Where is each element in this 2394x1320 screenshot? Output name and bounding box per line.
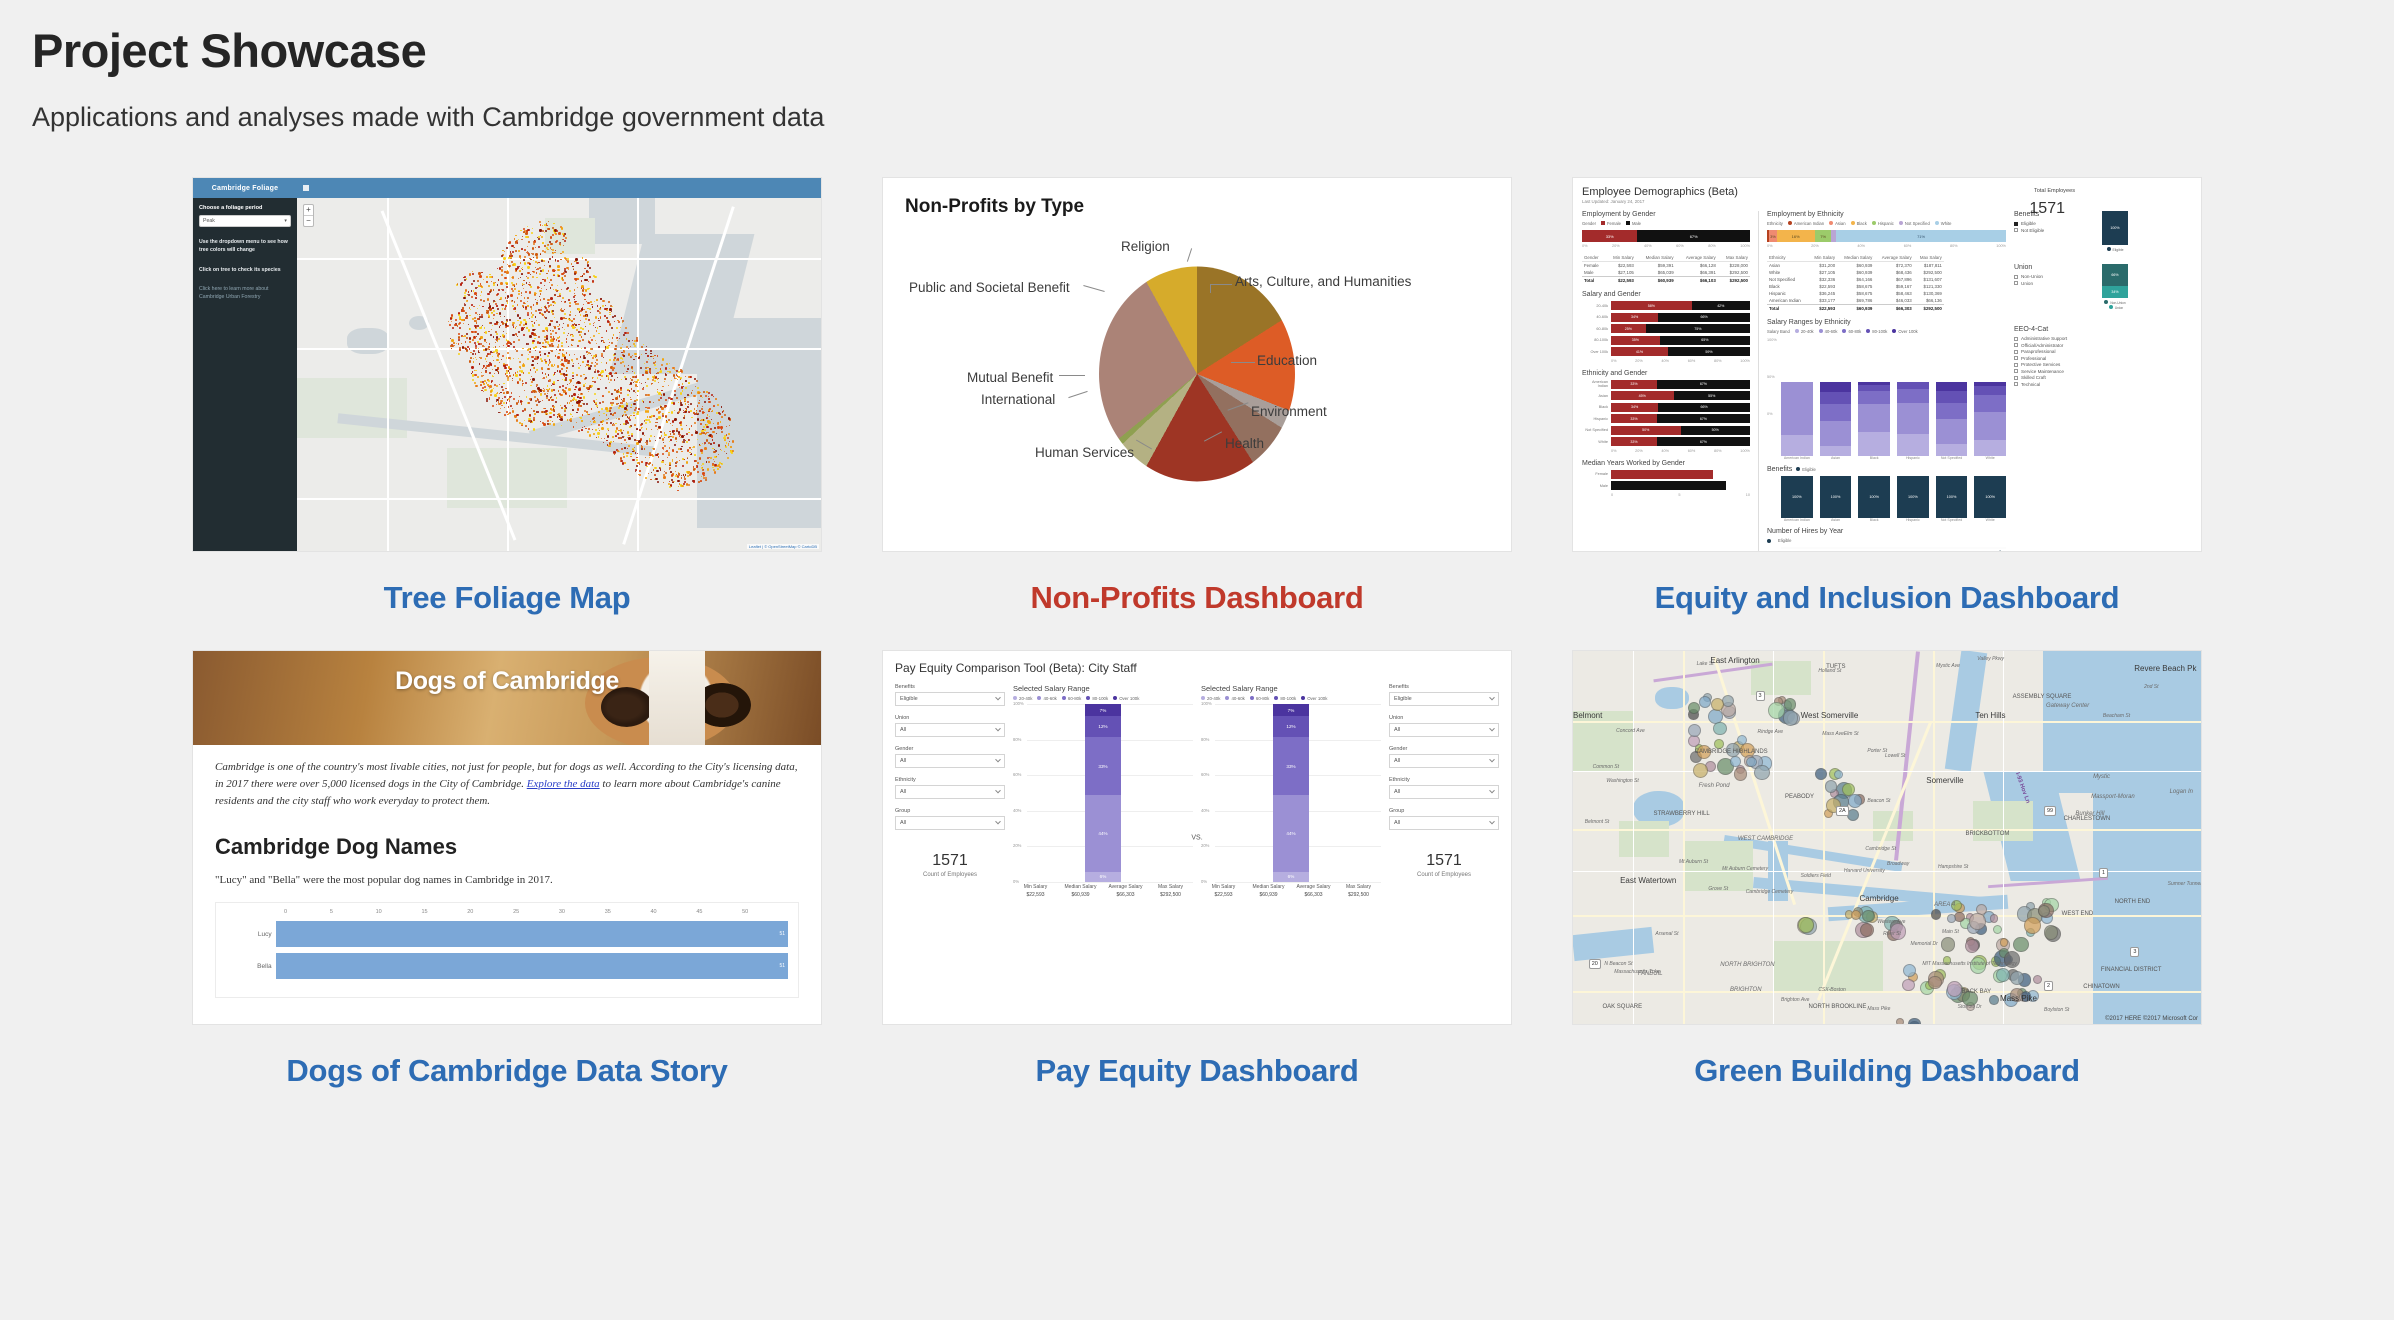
table-header: Average Salary bbox=[1676, 254, 1718, 262]
map-street-label: Beacon St bbox=[1867, 798, 1890, 804]
project-card-non-profits-dashboard[interactable]: Non-Profits by Type Arts, Culture, and H… bbox=[882, 177, 1512, 650]
table-row: American Indian$33,177$69,786$46,033$66,… bbox=[1767, 297, 1944, 305]
ethnicity-gender-axis: 0%20%40%60%80%100% bbox=[1611, 449, 1750, 453]
pie-label-health: Health bbox=[1225, 436, 1264, 451]
map-place-label: Somerville bbox=[1926, 776, 1963, 785]
thumbnail-tree-foliage-map[interactable]: Cambridge Foliage Choose a foliage perio… bbox=[192, 177, 822, 552]
dogs-chart-xaxis: 05101520253035404550 bbox=[284, 909, 788, 915]
foliage-sidebar: Cambridge Foliage Choose a foliage perio… bbox=[193, 178, 297, 551]
building-marker[interactable] bbox=[1688, 724, 1701, 737]
building-marker[interactable] bbox=[1993, 925, 2002, 934]
pie-label-mutual-benefit: Mutual Benefit bbox=[967, 370, 1053, 385]
stacked-bar: 7%12%33%44%6% bbox=[1085, 704, 1121, 882]
left-chart-plot: 0%20%40%60%80%100%7%12%33%44%6% bbox=[1013, 704, 1193, 882]
map-street-label: Concord Ave bbox=[1616, 728, 1645, 734]
count-of-employees-label: Count of Employees bbox=[895, 872, 1005, 878]
thumbnail-non-profits-dashboard[interactable]: Non-Profits by Type Arts, Culture, and H… bbox=[882, 177, 1512, 552]
benefits-kpi-legend: Eligible bbox=[2113, 248, 2124, 252]
thumbnail-dogs-of-cambridge[interactable]: Dogs of Cambridge Cambridge is one of th… bbox=[192, 650, 822, 1025]
foliage-map[interactable]: + − bbox=[297, 198, 821, 551]
map-street-label: N Beacon St bbox=[1604, 961, 1632, 967]
salary-column-header: Average Salary bbox=[1291, 884, 1336, 890]
chevron-down-icon bbox=[995, 757, 1001, 763]
dogs-intro-paragraph: Cambridge is one of the country's most l… bbox=[215, 759, 799, 810]
eeo-option[interactable]: Professional bbox=[2014, 356, 2128, 361]
map-place-label: Gateway Center bbox=[2046, 703, 2089, 709]
table-row: Total$22,593$60,939$66,303$292,500 bbox=[1767, 305, 1944, 313]
salary-value: $22,593 bbox=[1013, 892, 1058, 898]
select-ethnicity[interactable]: All bbox=[1389, 785, 1499, 799]
building-marker[interactable] bbox=[2033, 975, 2042, 984]
table-row: Hispanic$36,245$58,675$58,463$130,369 bbox=[1767, 290, 1944, 297]
benefits-column-1: 100% bbox=[1820, 476, 1852, 518]
salary-column-header: Max Salary bbox=[1148, 884, 1193, 890]
equity-total-employees-label: Total Employees bbox=[2034, 188, 2075, 194]
gender-stacked-bar: 33% 67% bbox=[1582, 230, 1750, 242]
eeo-option[interactable]: Official/Administrator bbox=[2014, 343, 2128, 348]
map-street-label: Sumner Tunnel bbox=[2168, 881, 2201, 887]
dog-bar-row: Lucy51 bbox=[226, 921, 788, 947]
table-row: Female$22,593$59,391$66,128$228,000 bbox=[1582, 262, 1750, 270]
pay-equity-title: Pay Equity Comparison Tool (Beta): City … bbox=[895, 661, 1499, 675]
bar-row: Not Specified50%50% bbox=[1582, 426, 1750, 435]
checkbox-icon[interactable] bbox=[2014, 363, 2018, 367]
foliage-period-value: Peak bbox=[203, 218, 215, 224]
salary-and-gender-heading: Salary and Gender bbox=[1582, 291, 1750, 298]
green-building-attribution: ©2017 HERE ©2017 Microsoft Cor bbox=[2105, 1016, 2198, 1022]
route-shield: 99 bbox=[2044, 806, 2056, 816]
dogs-hero-title: Dogs of Cambridge bbox=[193, 667, 821, 696]
table-row: Black$22,593$58,675$59,167$121,330 bbox=[1767, 283, 1944, 290]
map-place-label: ASSEMBLY SQUARE bbox=[2013, 694, 2072, 700]
benefits-chart-legend: Eligible bbox=[1802, 467, 1816, 472]
building-marker[interactable] bbox=[1825, 780, 1838, 793]
foliage-note-2: Click on tree to check its species bbox=[199, 267, 291, 275]
table-header: Max Salary bbox=[1914, 254, 1944, 262]
benefits-categories: American IndianAsianBlackHispanicNot Spe… bbox=[1781, 518, 2006, 522]
table-header: Max Salary bbox=[1718, 254, 1750, 262]
legend-band: 80-100k bbox=[1866, 329, 1887, 334]
map-street-label: Beacham St bbox=[2103, 713, 2130, 719]
building-marker[interactable] bbox=[1965, 939, 1980, 954]
benefits-chart-heading: Benefits bbox=[1767, 466, 1792, 473]
gender-bar-male: 67% bbox=[1637, 230, 1750, 242]
dog-bar-row: Bella51 bbox=[226, 953, 788, 979]
legend-not-specified: Not Specified bbox=[1899, 221, 1930, 226]
building-marker[interactable] bbox=[1969, 913, 1986, 930]
select-union[interactable]: All bbox=[895, 723, 1005, 737]
building-marker[interactable] bbox=[2044, 925, 2059, 940]
map-street-label: Arsenal St bbox=[1655, 931, 1678, 937]
select-group[interactable]: All bbox=[1389, 816, 1499, 830]
ethnicity-and-gender-heading: Ethnicity and Gender bbox=[1582, 370, 1750, 377]
table-row: Asian$31,200$60,939$72,370$187,811 bbox=[1767, 262, 1944, 270]
benefits-kpi-bar: 100% bbox=[2102, 211, 2128, 245]
map-street-label: Soldiers Field bbox=[1801, 873, 1831, 879]
legend-asian: Asian bbox=[1829, 221, 1845, 226]
building-marker[interactable] bbox=[1783, 710, 1799, 726]
bar-row: 40-60k34%66% bbox=[1582, 313, 1750, 322]
foliage-topbar bbox=[297, 178, 821, 198]
map-street-label: Main St bbox=[1942, 929, 1959, 935]
eeo-option[interactable]: Paraprofessional bbox=[2014, 349, 2128, 354]
thumbnail-green-building-dashboard[interactable]: East ArlingtonWest SomervilleTen HillsSo… bbox=[1572, 650, 2202, 1025]
route-shield: 1 bbox=[2099, 868, 2108, 878]
foliage-brand: Cambridge Foliage bbox=[193, 178, 297, 198]
union-filter-non-union[interactable]: Non-Union bbox=[2014, 274, 2097, 279]
column-2 bbox=[1858, 382, 1890, 456]
map-street-label: Washington St bbox=[1606, 778, 1638, 784]
foliage-map-attribution: Leaflet | © OpenStreetMap © CartoDB bbox=[747, 544, 819, 549]
green-building-map[interactable]: East ArlingtonWest SomervilleTen HillsSo… bbox=[1573, 651, 2201, 1024]
benefits-column-2: 100% bbox=[1858, 476, 1890, 518]
map-place-label: Massport-Moran bbox=[2091, 794, 2135, 800]
zoom-out-button[interactable]: − bbox=[304, 215, 313, 226]
map-place-label: Belmont bbox=[1573, 711, 1602, 720]
count-of-employees-value: 1571 bbox=[895, 852, 1005, 870]
count-of-employees-value: 1571 bbox=[1389, 852, 1499, 870]
map-place-label: PEABODY bbox=[1785, 794, 1814, 800]
table-header: Min Salary bbox=[1605, 254, 1636, 262]
map-street-label: Valley Pkwy bbox=[1977, 656, 2004, 662]
building-marker[interactable] bbox=[1931, 909, 1941, 919]
salary-column-header: Max Salary bbox=[1336, 884, 1381, 890]
table-header: Ethnicity bbox=[1767, 254, 1808, 262]
map-place-label: Revere Beach Pk bbox=[2134, 664, 2196, 673]
employment-by-ethnicity-heading: Employment by Ethnicity bbox=[1767, 211, 2006, 218]
benefits-filter-eligible[interactable]: Eligible bbox=[2014, 221, 2097, 226]
salary-value: $60,939 bbox=[1246, 892, 1291, 898]
median-years-axis: 0510 bbox=[1611, 493, 1750, 497]
map-place-label: East Watertown bbox=[1620, 876, 1676, 885]
eeo-option[interactable]: Skilled Craft bbox=[2014, 375, 2128, 380]
map-place-label: NORTH BRIGHTON bbox=[1720, 962, 1774, 968]
map-place-label: CHINATOWN bbox=[2083, 984, 2119, 990]
eeo-option[interactable]: Technical bbox=[2014, 382, 2128, 387]
card-caption-dogs-of-cambridge[interactable]: Dogs of Cambridge Data Story bbox=[286, 1053, 727, 1089]
ethnicity-gender-bars: American Indian33%67%Asian45%55%Black34%… bbox=[1582, 380, 1750, 447]
legend-band: 60-80k bbox=[1062, 696, 1081, 701]
table-row: White$27,105$60,939$68,436$292,500 bbox=[1767, 269, 1944, 276]
ethnicity-stacked-bar: 3%16%7%71% bbox=[1767, 230, 2006, 242]
union-filter-heading: Union bbox=[2014, 264, 2097, 271]
eeo-option[interactable]: Service Maintenance bbox=[2014, 369, 2128, 374]
dogs-chart-bars: Lucy51Bella51 bbox=[226, 921, 788, 979]
versus-label: VS. bbox=[1191, 834, 1202, 841]
salary-gender-axis: 0%20%40%60%80%100% bbox=[1611, 359, 1750, 363]
legend-band: 40-60k bbox=[1225, 696, 1244, 701]
thumbnail-equity-inclusion-dashboard[interactable]: Employee Demographics (Beta) Last Update… bbox=[1572, 177, 2202, 552]
building-marker[interactable] bbox=[1714, 739, 1724, 749]
map-street-label: Mt Auburn St bbox=[1679, 859, 1708, 865]
chevron-down-icon bbox=[995, 819, 1001, 825]
benefits-column-0: 100% bbox=[1781, 476, 1813, 518]
building-marker[interactable] bbox=[1699, 696, 1711, 708]
building-marker[interactable] bbox=[1902, 979, 1914, 991]
building-marker[interactable] bbox=[1754, 765, 1770, 781]
left-chart-legend: 20-40k40-60k60-80k80-100kOver 100k bbox=[1013, 696, 1193, 701]
select-group[interactable]: All bbox=[895, 816, 1005, 830]
zoom-in-button[interactable]: + bbox=[304, 205, 313, 215]
map-place-label: West Somerville bbox=[1801, 711, 1859, 720]
page-header: Project Showcase Applications and analys… bbox=[0, 0, 2394, 133]
checkbox-icon[interactable] bbox=[2014, 356, 2018, 360]
dogs-chart-caption: "Lucy" and "Bella" were the most popular… bbox=[215, 874, 799, 886]
foliage-period-label: Choose a foliage period bbox=[199, 205, 291, 211]
project-card-pay-equity-dashboard[interactable]: Pay Equity Comparison Tool (Beta): City … bbox=[882, 650, 1512, 1123]
checkbox-icon[interactable] bbox=[2014, 222, 2018, 226]
bar-row: Black34%66% bbox=[1582, 403, 1750, 412]
equity-title: Employee Demographics (Beta) bbox=[1582, 186, 2192, 198]
map-street-label: Cambridge St bbox=[1865, 846, 1896, 852]
building-marker[interactable] bbox=[1734, 767, 1747, 780]
map-place-label: Logan In bbox=[2170, 789, 2193, 795]
right-chart-plot: 0%20%40%60%80%100%7%12%33%44%6% bbox=[1201, 704, 1381, 882]
select-ethnicity[interactable]: All bbox=[895, 785, 1005, 799]
building-marker[interactable] bbox=[1713, 722, 1727, 736]
eeo-options-list[interactable]: Administrative SupportOfficial/Administr… bbox=[2014, 336, 2128, 387]
card-caption-non-profits-dashboard[interactable]: Non-Profits Dashboard bbox=[1031, 580, 1364, 616]
map-place-label: Bunker Hill bbox=[2075, 811, 2104, 817]
column-0 bbox=[1781, 382, 1813, 456]
route-shield: 20 bbox=[1589, 959, 1601, 969]
salary-value: $292,500 bbox=[1336, 892, 1381, 898]
stacked-bar: 7%12%33%44%6% bbox=[1273, 704, 1309, 882]
map-place-label: BRICKBOTTOM bbox=[1966, 831, 2010, 837]
building-marker[interactable] bbox=[1768, 702, 1785, 719]
left-salary-values: $22,593$60,939$66,303$292,500 bbox=[1013, 892, 1193, 898]
salary-column-header: Average Salary bbox=[1103, 884, 1148, 890]
checkbox-icon[interactable] bbox=[2014, 281, 2018, 285]
building-marker[interactable] bbox=[1908, 1018, 1921, 1024]
project-grid: Cambridge Foliage Choose a foliage perio… bbox=[0, 177, 2394, 1123]
map-street-label: Memorial Dr bbox=[1911, 941, 1938, 947]
select-union[interactable]: All bbox=[1389, 723, 1499, 737]
bar-row: Over 100k41%59% bbox=[1582, 347, 1750, 356]
map-place-label: STRAWBERRY HILL bbox=[1653, 811, 1709, 817]
building-marker[interactable] bbox=[2000, 938, 2008, 946]
map-place-label: Cambridge bbox=[1860, 894, 1899, 903]
map-place-label: CAMBRIDGE HIGHLANDS bbox=[1695, 749, 1768, 755]
filter-group: GroupAll bbox=[895, 808, 1005, 830]
building-marker[interactable] bbox=[1896, 1018, 1904, 1024]
gender-legend: Gender Female Male bbox=[1582, 221, 1750, 226]
map-zoom-controls[interactable]: + − bbox=[303, 204, 314, 227]
union-filter-union[interactable]: Union bbox=[2014, 281, 2097, 286]
map-street-label: Belmont St bbox=[1585, 819, 1609, 825]
salary-column-header: Min Salary bbox=[1201, 884, 1246, 890]
legend-band: 80-100k bbox=[1086, 696, 1108, 701]
map-street-label: Lowell St bbox=[1885, 753, 1905, 759]
select-gender[interactable]: All bbox=[895, 754, 1005, 768]
hamburger-icon[interactable] bbox=[303, 185, 309, 191]
filter-gender: GenderAll bbox=[1389, 746, 1499, 768]
select-gender[interactable]: All bbox=[1389, 754, 1499, 768]
project-card-dogs-of-cambridge[interactable]: Dogs of Cambridge Cambridge is one of th… bbox=[192, 650, 822, 1123]
checkbox-icon[interactable] bbox=[2014, 228, 2018, 232]
pie-label-religion: Religion bbox=[1121, 239, 1170, 254]
foliage-period-select[interactable]: Peak ▾ bbox=[199, 215, 291, 227]
map-place-label: Mystic bbox=[2093, 774, 2110, 780]
building-marker[interactable] bbox=[1860, 923, 1875, 938]
bar-row: 60-80k25%75% bbox=[1582, 324, 1750, 333]
map-street-label: Lake St bbox=[1697, 661, 1714, 667]
building-marker[interactable] bbox=[1815, 768, 1827, 780]
building-marker[interactable] bbox=[1834, 770, 1843, 779]
bar-row: Female bbox=[1582, 470, 1750, 479]
map-street-label: Brighton Ave bbox=[1781, 997, 1809, 1003]
building-marker[interactable] bbox=[1746, 757, 1756, 767]
filter-union: UnionAll bbox=[895, 715, 1005, 737]
map-street-label: Massachusetts Tpke bbox=[1614, 969, 1660, 975]
chevron-down-icon bbox=[1489, 726, 1495, 732]
building-marker[interactable] bbox=[1928, 976, 1942, 990]
count-of-employees-label: Count of Employees bbox=[1389, 872, 1499, 878]
building-marker[interactable] bbox=[1688, 702, 1700, 714]
right-chart-heading: Selected Salary Range bbox=[1201, 684, 1381, 693]
building-marker[interactable] bbox=[1941, 937, 1956, 952]
eeo-option[interactable]: Administrative Support bbox=[2014, 336, 2128, 341]
eeo-option[interactable]: Protective Services bbox=[2014, 362, 2128, 367]
legend-white: White bbox=[1935, 221, 1952, 226]
benefits-column-3: 100% bbox=[1897, 476, 1929, 518]
pie-label-human-services: Human Services bbox=[1035, 445, 1134, 460]
table-header: Average Salary bbox=[1874, 254, 1913, 262]
map-place-label: WEST CAMBRIDGE bbox=[1738, 836, 1793, 842]
salary-column-header: Median Salary bbox=[1058, 884, 1103, 890]
map-place-label: WEST END bbox=[2062, 911, 2094, 917]
salary-value: $292,500 bbox=[1148, 892, 1193, 898]
salary-ranges-yaxis: 100%50%0% bbox=[1767, 338, 1781, 412]
project-card-equity-inclusion-dashboard[interactable]: Employee Demographics (Beta) Last Update… bbox=[1572, 177, 2202, 650]
card-caption-green-building-dashboard[interactable]: Green Building Dashboard bbox=[1694, 1053, 2080, 1089]
map-street-label: Mt Auburn Cemetery bbox=[1722, 866, 1768, 872]
select-benefits[interactable]: Eligible bbox=[1389, 692, 1499, 706]
project-card-tree-foliage-map[interactable]: Cambridge Foliage Choose a foliage perio… bbox=[192, 177, 822, 650]
salary-ranges-categories: American IndianAsianBlackHispanicNot Spe… bbox=[1781, 456, 2006, 460]
checkbox-icon[interactable] bbox=[2014, 337, 2018, 341]
building-marker[interactable] bbox=[1947, 914, 1956, 923]
column-3 bbox=[1897, 382, 1929, 456]
checkbox-icon[interactable] bbox=[2014, 343, 2018, 347]
thumbnail-pay-equity-dashboard[interactable]: Pay Equity Comparison Tool (Beta): City … bbox=[882, 650, 1512, 1025]
table-header: Median Salary bbox=[1837, 254, 1874, 262]
map-place-label: Ten Hills bbox=[1975, 711, 2005, 720]
card-caption-equity-inclusion-dashboard[interactable]: Equity and Inclusion Dashboard bbox=[1655, 580, 2120, 616]
bar-row: Asian45%55% bbox=[1582, 391, 1750, 400]
dogs-hero-image: Dogs of Cambridge bbox=[193, 651, 821, 745]
building-marker[interactable] bbox=[1848, 794, 1862, 808]
page-title: Project Showcase bbox=[32, 24, 2394, 78]
table-header: Gender bbox=[1582, 254, 1605, 262]
map-street-label: Elm St bbox=[1844, 731, 1859, 737]
bar-row: 20-40k58%42% bbox=[1582, 301, 1750, 310]
salary-value: $60,939 bbox=[1058, 892, 1103, 898]
legend-hispanic: Hispanic bbox=[1872, 221, 1894, 226]
ethnicity-legend: EthnicityAmerican IndianAsianBlackHispan… bbox=[1767, 221, 2006, 226]
card-caption-tree-foliage-map[interactable]: Tree Foliage Map bbox=[384, 580, 631, 616]
map-street-label: Western Ave bbox=[1877, 919, 1905, 925]
map-place-label: Fresh Pond bbox=[1699, 783, 1730, 789]
map-street-label: MIT Massachusetts Institute of Technolog… bbox=[1922, 961, 2017, 967]
pay-equity-left-filters[interactable]: BenefitsEligibleUnionAllGenderAllEthnici… bbox=[895, 684, 1005, 898]
legend-band: 60-80k bbox=[1842, 329, 1861, 334]
building-marker[interactable] bbox=[1798, 917, 1814, 933]
explore-the-data-link[interactable]: Explore the data bbox=[527, 778, 600, 790]
building-marker[interactable] bbox=[1996, 968, 2011, 983]
salary-gender-bars: 20-40k58%42%40-60k34%66%60-80k25%75%80-1… bbox=[1582, 301, 1750, 356]
foliage-note-3[interactable]: Click here to learn more about Cambridge… bbox=[199, 286, 291, 302]
median-years-heading: Median Years Worked by Gender bbox=[1582, 460, 1750, 467]
route-shield: 2 bbox=[2044, 981, 2053, 991]
column-5 bbox=[1974, 382, 2006, 456]
nonprofits-chart-title: Non-Profits by Type bbox=[905, 196, 1489, 218]
chevron-down-icon bbox=[1489, 757, 1495, 763]
map-street-label: Rindge Ave bbox=[1757, 729, 1783, 735]
building-marker[interactable] bbox=[1862, 910, 1875, 923]
salary-column-header: Median Salary bbox=[1246, 884, 1291, 890]
map-street-label: River St bbox=[1883, 931, 1901, 937]
select-benefits[interactable]: Eligible bbox=[895, 692, 1005, 706]
column-1 bbox=[1820, 382, 1852, 456]
building-marker[interactable] bbox=[1903, 964, 1916, 977]
equity-total-employees-value: 1571 bbox=[2029, 200, 2065, 218]
filter-group: GroupAll bbox=[1389, 808, 1499, 830]
project-card-green-building-dashboard[interactable]: East ArlingtonWest SomervilleTen HillsSo… bbox=[1572, 650, 2202, 1123]
building-marker[interactable] bbox=[1784, 698, 1796, 710]
checkbox-icon[interactable] bbox=[2014, 275, 2018, 279]
legend-band: Over 100k bbox=[1113, 696, 1139, 701]
bar-row: Hispanic33%67% bbox=[1582, 414, 1750, 423]
nonprofits-pie-chart: Arts, Culture, and Humanities Education … bbox=[905, 222, 1489, 522]
building-marker[interactable] bbox=[1851, 910, 1861, 920]
pie-label-arts: Arts, Culture, and Humanities bbox=[1235, 274, 1411, 289]
checkbox-icon[interactable] bbox=[2014, 369, 2018, 373]
checkbox-icon[interactable] bbox=[2014, 350, 2018, 354]
map-street-label: Storrow Dr bbox=[1958, 1004, 1982, 1010]
pay-equity-right-chart: Selected Salary Range 20-40k40-60k60-80k… bbox=[1201, 684, 1381, 898]
checkbox-icon[interactable] bbox=[2014, 382, 2018, 386]
legend-black: Black bbox=[1851, 221, 1867, 226]
building-marker[interactable] bbox=[1693, 763, 1708, 778]
building-marker[interactable] bbox=[1989, 995, 1999, 1005]
filter-ethnicity: EthnicityAll bbox=[1389, 777, 1499, 799]
card-caption-pay-equity-dashboard[interactable]: Pay Equity Dashboard bbox=[1035, 1053, 1358, 1089]
gender-salary-table: GenderMin SalaryMedian SalaryAverage Sal… bbox=[1582, 254, 1750, 284]
building-marker[interactable] bbox=[2013, 937, 2028, 952]
column-4 bbox=[1936, 382, 1968, 456]
equity-subtitle: Last Updated: January 24, 2017 bbox=[1582, 199, 2192, 204]
building-marker[interactable] bbox=[1990, 914, 1999, 923]
chevron-down-icon bbox=[995, 726, 1001, 732]
benefits-columns: 100%100%100%100%100%100% bbox=[1781, 476, 2006, 518]
hires-area-svg bbox=[1781, 546, 2006, 552]
benefits-filter-not-eligible[interactable]: Not Eligible bbox=[2014, 228, 2097, 233]
building-marker[interactable] bbox=[2024, 917, 2041, 934]
legend-band: 60-80k bbox=[1250, 696, 1269, 701]
map-street-label: Common St bbox=[1593, 764, 1619, 770]
gender-bar-female: 33% bbox=[1582, 230, 1637, 242]
gender-axis: 0% 20% 40% 60% 80% 100% bbox=[1582, 244, 1750, 248]
pay-equity-right-filters[interactable]: BenefitsEligibleUnionAllGenderAllEthnici… bbox=[1389, 684, 1499, 898]
map-street-label: Harvard University bbox=[1844, 868, 1885, 874]
legend-band: Over 100k bbox=[1301, 696, 1327, 701]
map-street-label: 2nd St bbox=[2144, 684, 2158, 690]
salary-value: $66,303 bbox=[1291, 892, 1336, 898]
chevron-down-icon: ▾ bbox=[284, 218, 287, 224]
bar-row: 80-100k35%65% bbox=[1582, 336, 1750, 345]
checkbox-icon[interactable] bbox=[2014, 376, 2018, 380]
